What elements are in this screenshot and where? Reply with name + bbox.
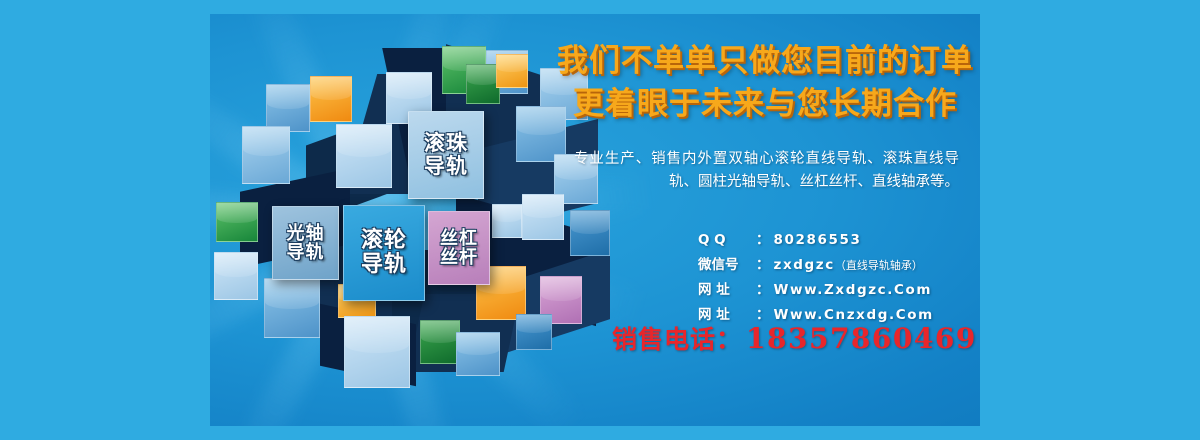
product-label-gunlun-daogui[interactable]: 滚轮 导轨	[343, 205, 425, 301]
sales-phone-number[interactable]: 18357860469	[746, 322, 977, 355]
contact-info-list: Q Q ： 80286553 微信号 ： zxdgzc （直线导轨轴承） 网 址…	[698, 228, 934, 328]
product-label-sigang-sigan[interactable]: 丝杠 丝杆	[428, 211, 490, 285]
product-label-guangzhou-daogui[interactable]: 光轴 导轨	[272, 206, 339, 280]
sales-phone-label: 销售电话：	[612, 320, 742, 356]
contact-value-website-1[interactable]: Www.Zxdgzc.Com	[774, 282, 933, 298]
product-label-line1: 滚轮	[361, 228, 407, 253]
contact-value-qq[interactable]: 80286553	[774, 232, 862, 248]
contact-label-wechat: 微信号	[698, 253, 756, 273]
product-label-line1: 光轴	[287, 223, 325, 244]
banner-content: 我们不单单只做您目前的订单 更着眼于未来与您长期合作 专业生产、销售内外置双轴心…	[550, 14, 980, 426]
product-label-guangzhou-text: 光轴 导轨	[287, 224, 325, 263]
headline-line-1: 我们不单单只做您目前的订单	[550, 40, 980, 83]
sales-phone[interactable]: 销售电话： 18357860469	[612, 320, 977, 356]
banner-panel: 滚珠 导轨 光轴 导轨 滚轮 导轨 丝杠 丝杆	[210, 14, 980, 426]
contact-separator: ：	[756, 278, 770, 298]
description-text: 专业生产、销售内外置双轴心滚轮直线导轨、滚珠直线导轨、圆柱光轴导轨、丝杠丝杆、直…	[574, 148, 959, 195]
product-label-line1: 丝杠	[440, 228, 478, 249]
product-label-line1: 滚珠	[424, 131, 468, 155]
product-label-line2: 导轨	[287, 242, 325, 263]
banner-root: 滚珠 导轨 光轴 导轨 滚轮 导轨 丝杠 丝杆	[0, 0, 1200, 440]
contact-separator: ：	[756, 253, 770, 273]
contact-row-website-1: 网 址 ： Www.Zxdgzc.Com	[698, 278, 934, 298]
contact-label-qq: Q Q	[698, 232, 756, 248]
contact-row-wechat: 微信号 ： zxdgzc （直线导轨轴承）	[698, 253, 934, 273]
product-label-line2: 导轨	[361, 252, 407, 277]
contact-label-website: 网 址	[698, 278, 756, 298]
contact-row-qq: Q Q ： 80286553	[698, 228, 934, 248]
headline-line-2: 更着眼于未来与您长期合作	[550, 83, 980, 126]
headline: 我们不单单只做您目前的订单 更着眼于未来与您长期合作	[550, 40, 980, 126]
contact-separator: ：	[756, 228, 770, 248]
product-label-gunzhu-text: 滚珠 导轨	[424, 132, 468, 177]
contact-value-wechat[interactable]: zxdgzc	[774, 257, 835, 273]
product-label-line2: 导轨	[424, 154, 468, 178]
product-label-gunzhu-daogui[interactable]: 滚珠 导轨	[408, 111, 484, 199]
product-label-sigang-text: 丝杠 丝杆	[440, 229, 478, 268]
product-label-line2: 丝杆	[440, 247, 478, 268]
contact-note-wechat: （直线导轨轴承）	[835, 257, 923, 273]
product-label-gunlun-text: 滚轮 导轨	[361, 229, 407, 277]
